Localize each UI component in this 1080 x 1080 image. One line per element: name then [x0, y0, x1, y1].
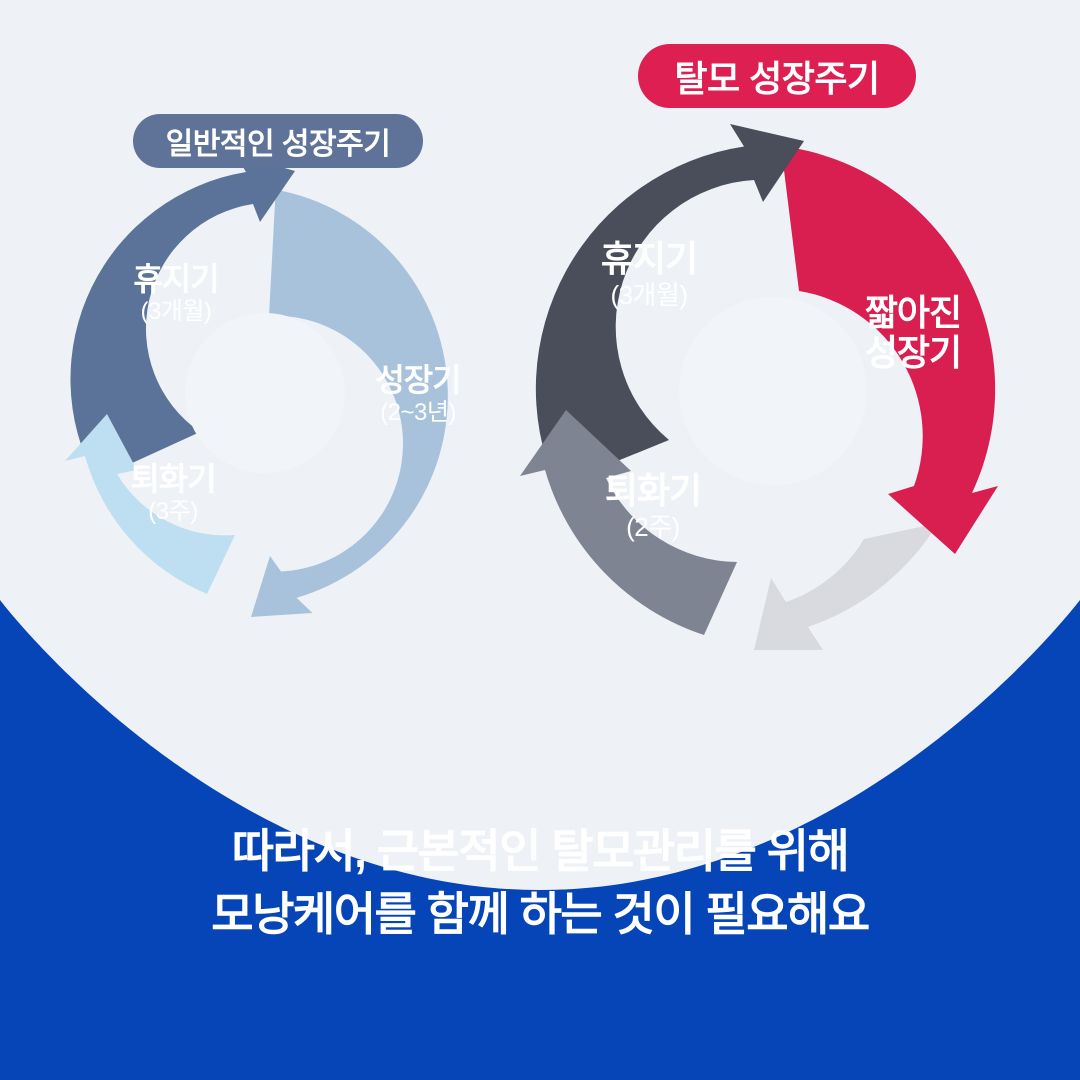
hairloss-cycle-diagram: [518, 138, 1028, 660]
infographic-canvas: 휴지기 (3개월) 성장기 (2~3년) 퇴화기 (3주): [0, 0, 1080, 1080]
hairloss-tail-arc: [754, 523, 938, 650]
caption-line-2: 모낭케어를 함께 하는 것이 필요해요: [0, 883, 1080, 946]
hairloss-cycle-title-badge: 탈모 성장주기: [638, 44, 916, 108]
caption-line-1: 따라서, 근본적인 탈모관리를 위해: [0, 820, 1080, 883]
hairloss-donut-hole: [679, 297, 867, 485]
bottom-caption: 따라서, 근본적인 탈모관리를 위해 모낭케어를 함께 하는 것이 필요해요: [0, 820, 1080, 947]
normal-cycle-title-badge: 일반적인 성장주기: [133, 114, 423, 168]
normal-donut-hole: [185, 313, 345, 473]
normal-cycle-diagram: [55, 168, 475, 618]
